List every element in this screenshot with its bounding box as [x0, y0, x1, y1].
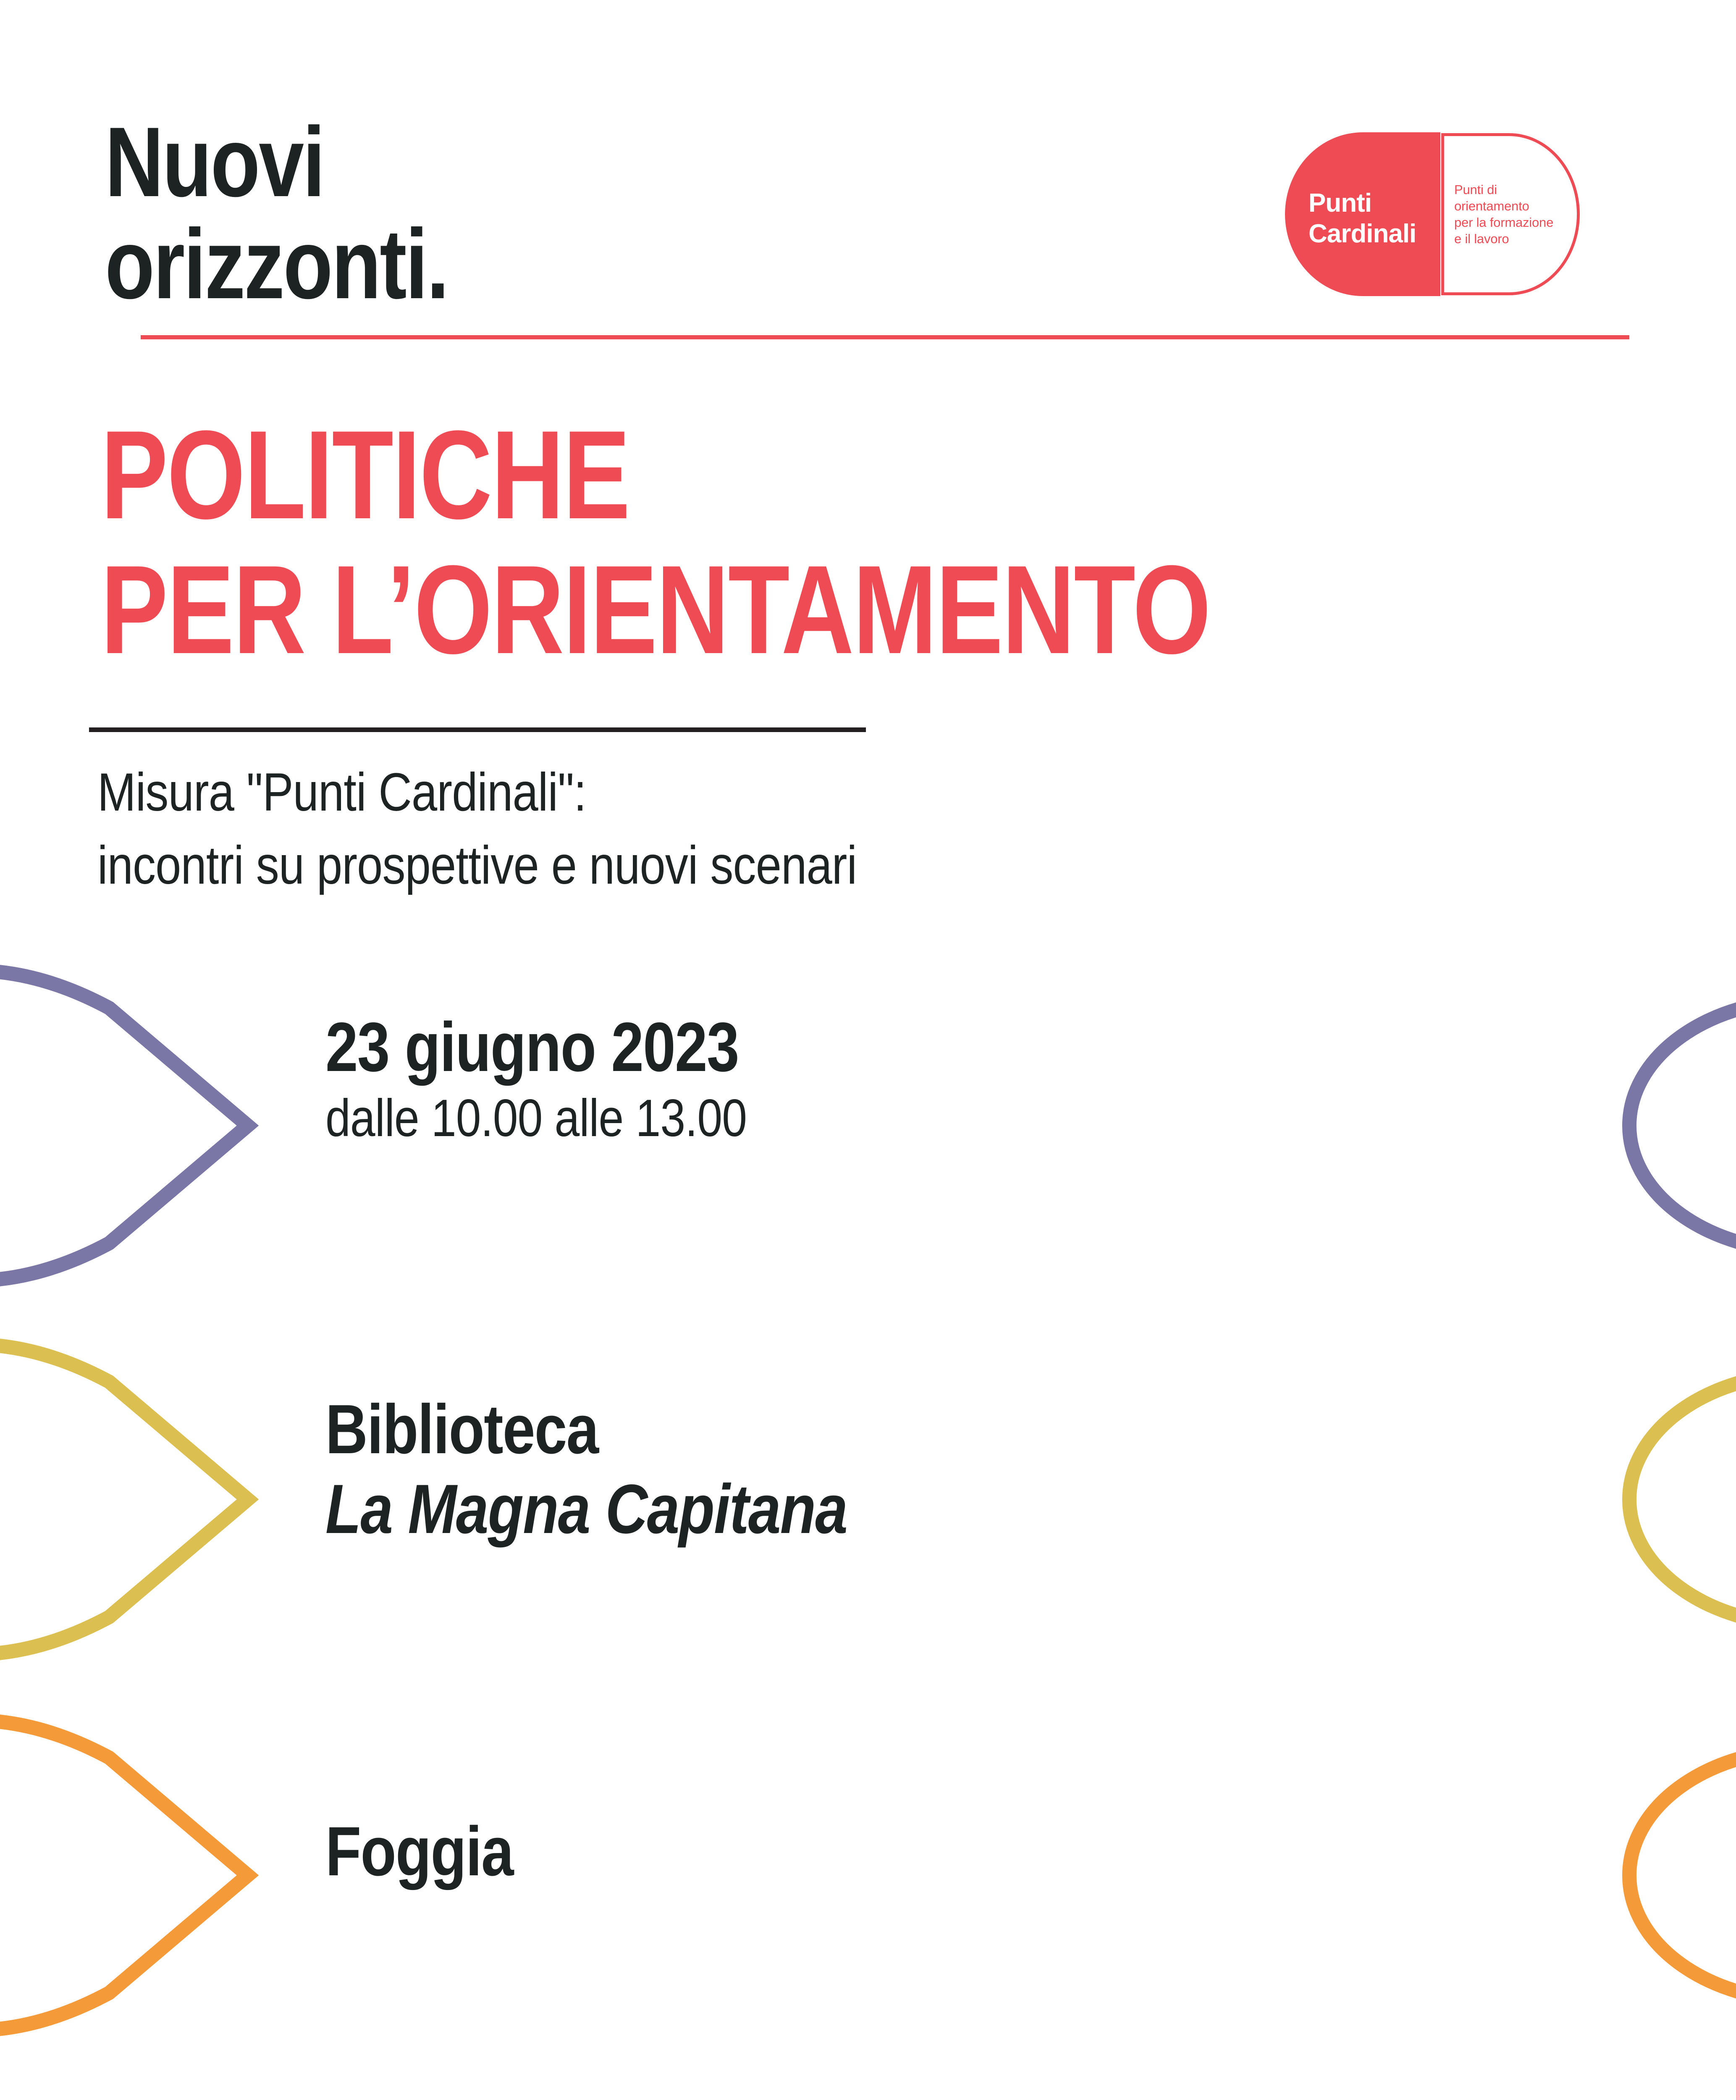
leaf-chevron-left-orange-icon [0, 1707, 260, 2043]
headline-line-2: PER L’ORIENTAMENTO [101, 542, 1377, 677]
city-name: Foggia [325, 1812, 1348, 1891]
page-title: POLITICHE PER L’ORIENTAMENTO [101, 407, 1697, 677]
brand-line-1: Nuovi [105, 111, 794, 213]
divider-red-top [141, 335, 1629, 339]
punti-cardinali-blob-icon: Punti Cardinali [1285, 132, 1440, 296]
brand-line-2: orizzonti. [105, 213, 794, 315]
leaf-chevron-left-purple-icon [0, 958, 260, 1294]
page-subtitle: Misura "Punti Cardinali": incontri su pr… [97, 756, 1525, 902]
info-text-date: 23 giugno 2023 dalle 10.00 alle 13.00 [325, 1008, 1543, 1150]
punti-cardinali-outline-label: Punti di orientamento per la formazione … [1454, 181, 1553, 247]
punti-cardinali-blob-label: Punti Cardinali [1309, 188, 1416, 249]
info-text-city: Foggia [325, 1812, 1543, 1891]
oval-right-yellow-icon [1571, 1331, 1736, 1667]
event-time: dalle 10.00 alle 13.00 [325, 1087, 1373, 1150]
divider-black [89, 727, 866, 732]
leaf-chevron-left-yellow-icon [0, 1331, 260, 1667]
oval-right-orange-icon [1571, 1707, 1736, 2043]
headline-line-1: POLITICHE [101, 407, 1377, 542]
oval-right-purple-icon [1571, 958, 1736, 1294]
venue-name: Biblioteca [325, 1390, 1348, 1469]
punti-cardinali-logo: Punti Cardinali Punti di orientamento pe… [1285, 132, 1621, 296]
subtitle-line-1: Misura "Punti Cardinali": [97, 756, 1325, 829]
subtitle-line-2: incontri su prospettive e nuovi scenari [97, 829, 1325, 902]
brand-lockup: Nuovi orizzonti. [105, 111, 945, 315]
info-text-venue: Biblioteca La Magna Capitana [325, 1390, 1543, 1550]
venue-subname: La Magna Capitana [325, 1469, 1348, 1550]
punti-cardinali-outline-icon: Punti di orientamento per la formazione … [1441, 133, 1580, 295]
event-date: 23 giugno 2023 [325, 1008, 1348, 1087]
header-block: Nuovi orizzonti. Punti Cardinali Punti d… [0, 0, 1736, 353]
poster-canvas: Nuovi orizzonti. Punti Cardinali Punti d… [0, 0, 1736, 2100]
